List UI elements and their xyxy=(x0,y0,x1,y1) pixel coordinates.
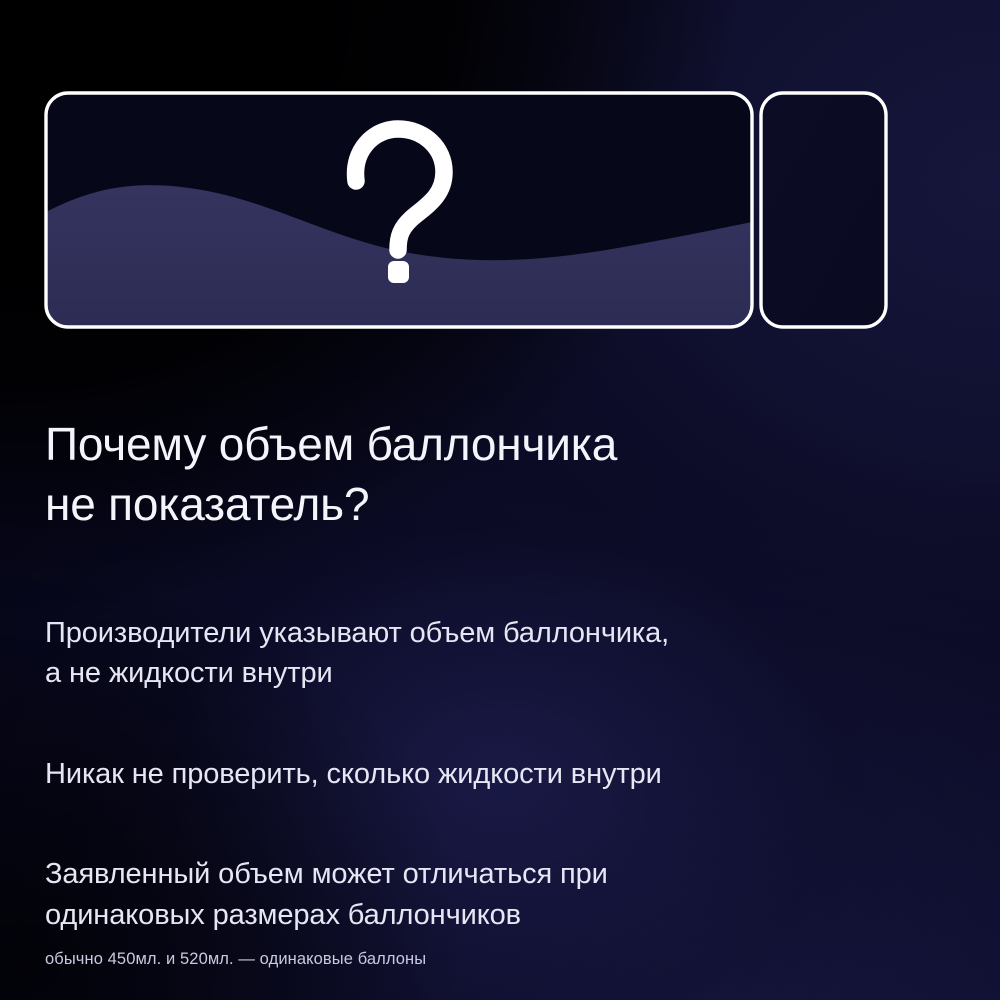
page-title: Почему объем баллончика не показатель? xyxy=(45,415,945,535)
canister-illustration xyxy=(0,0,1000,400)
canister-cap-fill xyxy=(761,93,886,327)
bullet-text: Заявленный объем может отличаться при од… xyxy=(45,854,945,935)
list-item: Никак не проверить, сколько жидкости вну… xyxy=(45,754,945,795)
list-item: Производители указывают объем баллончика… xyxy=(45,613,945,694)
bullet-note: обычно 450мл. и 520мл. — одинаковые балл… xyxy=(45,948,945,970)
list-item: Заявленный объем может отличаться при од… xyxy=(45,854,945,969)
text-content: Почему объем баллончика не показатель? П… xyxy=(45,415,945,970)
bullet-list: Производители указывают объем баллончика… xyxy=(45,613,945,970)
bullet-text: Производители указывают объем баллончика… xyxy=(45,613,945,694)
canister-svg xyxy=(0,0,1000,400)
slide-root: Почему объем баллончика не показатель? П… xyxy=(0,0,1000,1000)
bullet-text: Никак не проверить, сколько жидкости вну… xyxy=(45,754,945,795)
